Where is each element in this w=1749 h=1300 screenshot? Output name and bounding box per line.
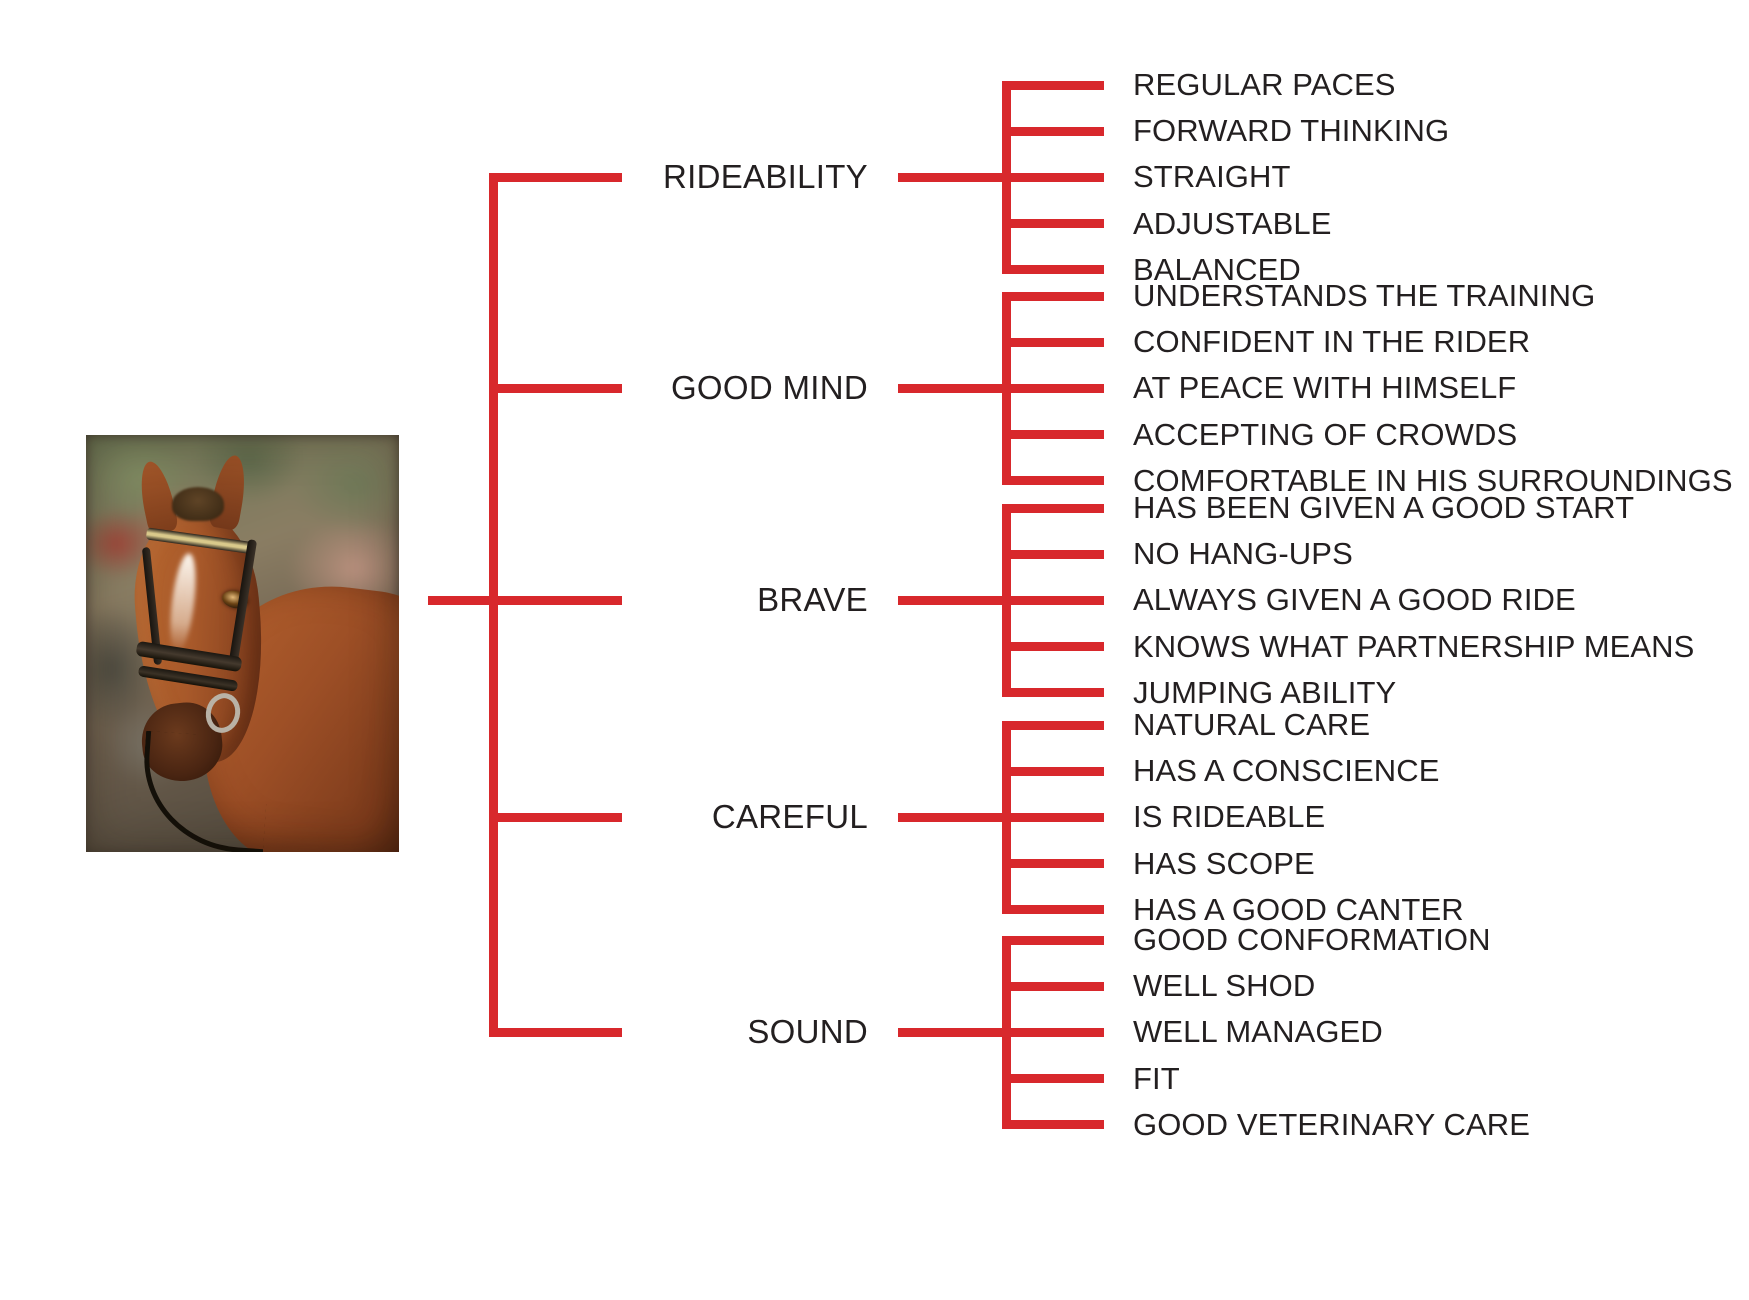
leaf-connector-3-2 <box>1002 813 1105 822</box>
leaf-connector-3-4 <box>1002 905 1105 914</box>
leaf-connector-4-2 <box>1002 1028 1105 1037</box>
leaf-connector-4-1 <box>1002 982 1105 991</box>
leaf-connector-3-0 <box>1002 721 1105 730</box>
horse-photo <box>86 435 399 852</box>
leaf-label: ALWAYS GIVEN A GOOD RIDE <box>1133 582 1576 618</box>
leaf-connector-4-4 <box>1002 1120 1105 1129</box>
leaf-label: JUMPING ABILITY <box>1133 675 1396 711</box>
leaf-label: AT PEACE WITH HIMSELF <box>1133 370 1516 406</box>
leaf-connector-1-0 <box>1002 292 1105 301</box>
leaf-connector-2-2 <box>1002 596 1105 605</box>
category-label: GOOD MIND <box>640 369 868 407</box>
leaf-connector-1-4 <box>1002 476 1105 485</box>
leaf-label: NATURAL CARE <box>1133 707 1370 743</box>
category-connector-3 <box>898 813 1011 822</box>
leaf-label: FORWARD THINKING <box>1133 113 1449 149</box>
leaf-connector-0-2 <box>1002 173 1105 182</box>
leaf-connector-2-3 <box>1002 642 1105 651</box>
leaf-connector-2-4 <box>1002 688 1105 697</box>
leaf-connector-0-4 <box>1002 265 1105 274</box>
main-trunk <box>489 173 498 1037</box>
branch-arm-2 <box>489 596 623 605</box>
leaf-connector-3-1 <box>1002 767 1105 776</box>
category-connector-2 <box>898 596 1011 605</box>
leaf-label: STRAIGHT <box>1133 159 1291 195</box>
branch-arm-4 <box>489 1028 623 1037</box>
category-label: SOUND <box>640 1013 868 1051</box>
root-stub <box>428 596 498 605</box>
leaf-label: IS RIDEABLE <box>1133 799 1325 835</box>
leaf-label: REGULAR PACES <box>1133 67 1396 103</box>
branch-arm-1 <box>489 384 623 393</box>
category-connector-0 <box>898 173 1011 182</box>
leaf-label: FIT <box>1133 1061 1180 1097</box>
leaf-connector-2-0 <box>1002 504 1105 513</box>
leaf-label: WELL MANAGED <box>1133 1014 1383 1050</box>
category-label: BRAVE <box>640 581 868 619</box>
leaf-connector-1-3 <box>1002 430 1105 439</box>
leaf-label: CONFIDENT IN THE RIDER <box>1133 324 1530 360</box>
category-connector-4 <box>898 1028 1011 1037</box>
leaf-label: GOOD CONFORMATION <box>1133 922 1491 958</box>
leaf-label: ADJUSTABLE <box>1133 206 1332 242</box>
category-label: CAREFUL <box>640 798 868 836</box>
leaf-connector-3-3 <box>1002 859 1105 868</box>
leaf-label: NO HANG-UPS <box>1133 536 1353 572</box>
leaf-label: ACCEPTING OF CROWDS <box>1133 417 1517 453</box>
leaf-connector-4-0 <box>1002 936 1105 945</box>
leaf-label: HAS BEEN GIVEN A GOOD START <box>1133 490 1634 526</box>
leaf-label: UNDERSTANDS THE TRAINING <box>1133 278 1595 314</box>
leaf-label: HAS SCOPE <box>1133 846 1315 882</box>
category-label: RIDEABILITY <box>640 158 868 196</box>
category-connector-1 <box>898 384 1011 393</box>
branch-arm-0 <box>489 173 623 182</box>
leaf-connector-4-3 <box>1002 1074 1105 1083</box>
leaf-label: HAS A CONSCIENCE <box>1133 753 1440 789</box>
leaf-connector-1-2 <box>1002 384 1105 393</box>
leaf-connector-0-1 <box>1002 127 1105 136</box>
leaf-connector-0-3 <box>1002 219 1105 228</box>
branch-arm-3 <box>489 813 623 822</box>
leaf-connector-2-1 <box>1002 550 1105 559</box>
leaf-label: WELL SHOD <box>1133 968 1315 1004</box>
photo-vignette <box>86 435 399 852</box>
leaf-label: GOOD VETERINARY CARE <box>1133 1107 1530 1143</box>
leaf-label: KNOWS WHAT PARTNERSHIP MEANS <box>1133 629 1694 665</box>
leaf-connector-0-0 <box>1002 81 1105 90</box>
leaf-connector-1-1 <box>1002 338 1105 347</box>
diagram-canvas: REGULAR PACESFORWARD THINKINGSTRAIGHTADJ… <box>0 0 1749 1300</box>
